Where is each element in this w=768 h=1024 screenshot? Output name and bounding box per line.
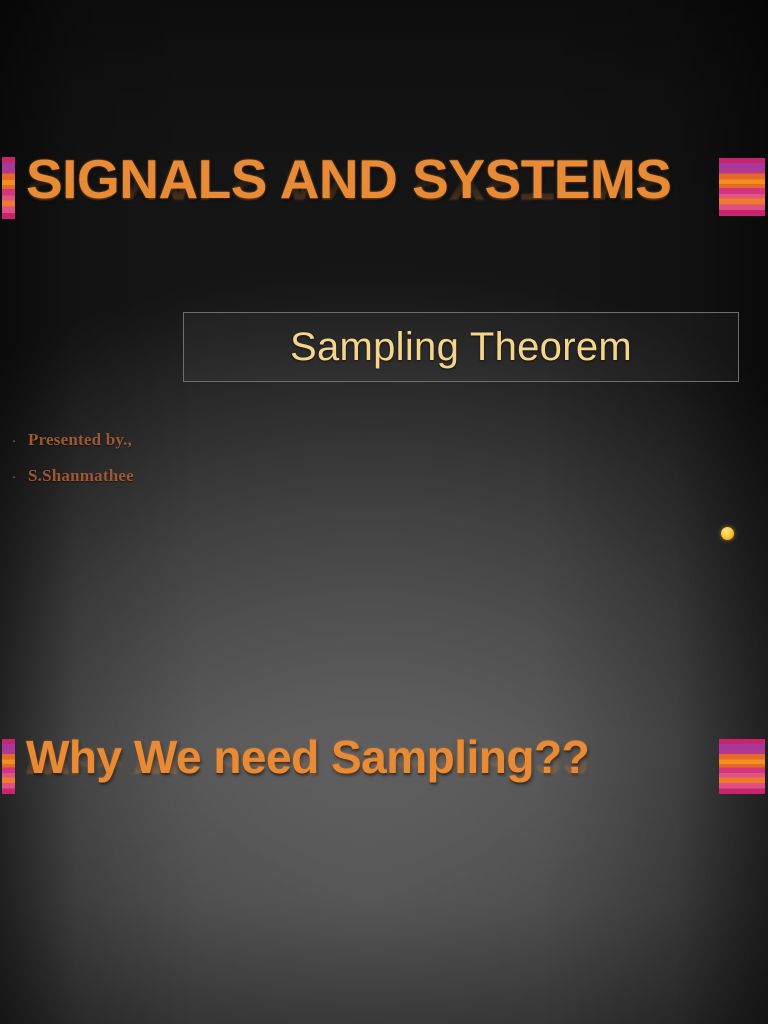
list-item: · S.Shanmathee: [0, 466, 330, 502]
stripe-decoration-bottom-right: [719, 739, 765, 794]
bullet-dot-icon: ·: [0, 433, 28, 448]
page-title-reflection: SIGNALS AND SYSTEMS: [26, 153, 671, 208]
bullet-dot-icon: ·: [0, 469, 28, 484]
gold-dot-icon: [721, 527, 734, 540]
subtitle-text: Sampling Theorem: [290, 325, 632, 370]
presenter-list: · Presented by., · S.Shanmathee: [0, 430, 330, 502]
stripe-decoration-bottom-left: [2, 739, 15, 794]
section-heading-reflection: Why We need Sampling??: [26, 735, 589, 781]
subtitle-box: Sampling Theorem: [183, 312, 739, 382]
presenter-name: S.Shanmathee: [28, 466, 134, 486]
stripe-decoration-top-left: [2, 157, 15, 219]
stripe-decoration-top-right: [719, 158, 765, 216]
section-heading: Why We need Sampling?? Why We need Sampl…: [26, 734, 589, 827]
page-title: SIGNALS AND SYSTEMS SIGNALS AND SYSTEMS: [26, 152, 671, 263]
list-item: · Presented by.,: [0, 430, 330, 466]
presentation-slide: SIGNALS AND SYSTEMS SIGNALS AND SYSTEMS …: [0, 0, 768, 1024]
presenter-label: Presented by.,: [28, 430, 132, 450]
